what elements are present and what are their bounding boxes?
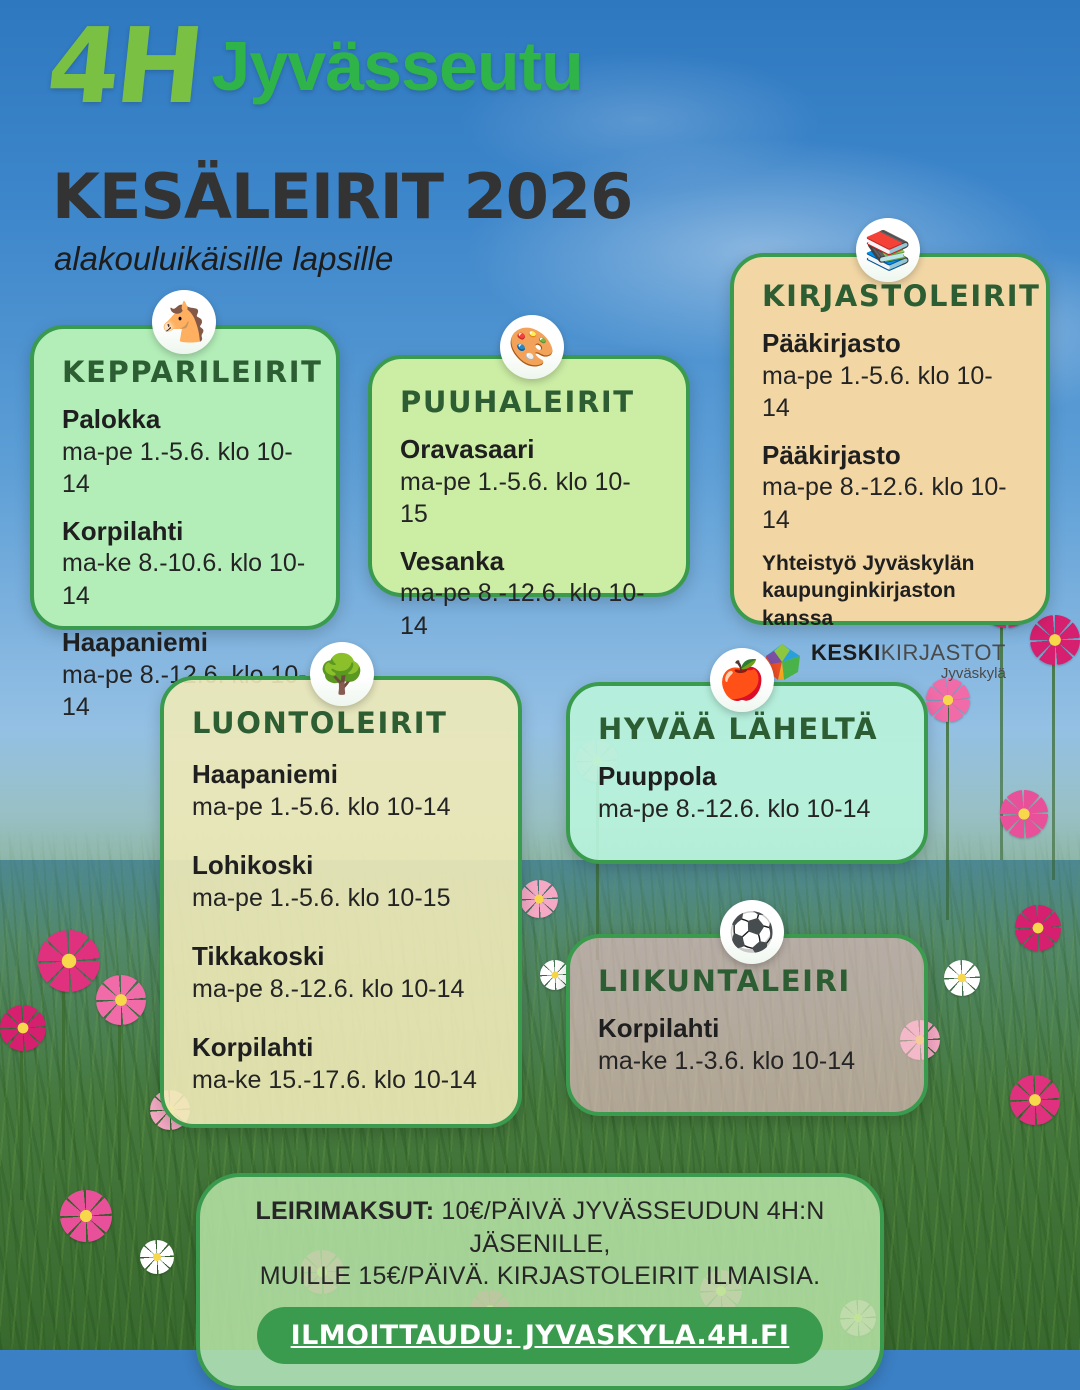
card-heading-hyvaa-lahelta: HYVÄÄ LÄHELTÄ <box>598 712 896 746</box>
partner-logo-text: KESKIKIRJASTOT Jyväskylä <box>811 642 1006 681</box>
camp-place: Palokka <box>62 403 308 436</box>
camp-entry: Vesanka ma-pe 8.-12.6. klo 10-14 <box>400 545 658 643</box>
logo-4h-mark: 4H <box>44 24 204 109</box>
page-subtitle: alakouluikäisille lapsille <box>54 240 393 278</box>
camp-schedule: ma-ke 8.-10.6. klo 10-14 <box>62 547 308 612</box>
camp-schedule: ma-pe 8.-12.6. klo 10-14 <box>762 471 1018 536</box>
camp-place: Tikkakoski <box>192 940 490 973</box>
books-icon: 📚 <box>856 218 920 282</box>
camp-schedule: ma-pe 8.-12.6. klo 10-14 <box>598 793 896 826</box>
camp-schedule: ma-pe 8.-12.6. klo 10-14 <box>400 577 658 642</box>
camp-schedule: ma-pe 1.-5.6. klo 10-15 <box>192 882 490 915</box>
card-heading-kepparileirit: KEPPARILEIRIT <box>62 355 308 389</box>
partner-logo-keskikirjastot: KESKIKIRJASTOT Jyväskylä <box>762 642 1018 682</box>
camp-place: Pääkirjasto <box>762 439 1018 472</box>
camp-schedule: ma-pe 1.-5.6. klo 10-15 <box>400 466 658 531</box>
horse-icon: 🐴 <box>152 290 216 354</box>
page-title: KESÄLEIRIT 2026 <box>52 160 632 233</box>
camp-place: Puuppola <box>598 760 896 793</box>
card-heading-luontoleirit: LUONTOLEIRIT <box>192 706 490 740</box>
camp-schedule: ma-ke 1.-3.6. klo 10-14 <box>598 1045 896 1078</box>
cooperation-line-1: Yhteistyö Jyväskylän <box>762 550 1018 577</box>
card-luontoleirit: LUONTOLEIRIT Haapaniemi ma-pe 1.-5.6. kl… <box>160 676 522 1128</box>
register-cta-button[interactable]: ILMOITTAUDU: JYVASKYLA.4H.FI <box>257 1307 824 1364</box>
camp-schedule: ma-pe 1.-5.6. klo 10-14 <box>762 360 1018 425</box>
card-kepparileirit: KEPPARILEIRIT Palokka ma-pe 1.-5.6. klo … <box>30 325 340 630</box>
camp-schedule: ma-pe 8.-12.6. klo 10-14 <box>192 973 490 1006</box>
camp-place: Korpilahti <box>192 1031 490 1064</box>
soccer-ball-icon: ⚽ <box>720 900 784 964</box>
camp-place: Haapaniemi <box>62 626 308 659</box>
fee-label: LEIRIMAKSUT: <box>255 1197 434 1225</box>
tree-icon: 🌳 <box>310 642 374 706</box>
camp-entry: Palokka ma-pe 1.-5.6. klo 10-14 <box>62 403 308 501</box>
camp-entry: Korpilahti ma-ke 8.-10.6. klo 10-14 <box>62 515 308 613</box>
camp-place: Lohikoski <box>192 849 490 882</box>
fee-line-1: LEIRIMAKSUT: 10€/PÄIVÄ JYVÄSSEUDUN 4H:N … <box>226 1195 854 1260</box>
fee-text-1: 10€/PÄIVÄ JYVÄSSEUDUN 4H:N JÄSENILLE, <box>434 1197 824 1258</box>
camp-entry: Lohikoski ma-pe 1.-5.6. klo 10-15 <box>192 849 490 914</box>
partner-logo-light: KIRJASTOT <box>881 640 1006 665</box>
camp-schedule: ma-ke 15.-17.6. klo 10-14 <box>192 1064 490 1097</box>
camp-entry: Tikkakoski ma-pe 8.-12.6. klo 10-14 <box>192 940 490 1005</box>
camp-place: Oravasaari <box>400 433 658 466</box>
camp-schedule: ma-pe 1.-5.6. klo 10-14 <box>192 791 490 824</box>
palette-icon: 🎨 <box>500 315 564 379</box>
footer-panel: LEIRIMAKSUT: 10€/PÄIVÄ JYVÄSSEUDUN 4H:N … <box>196 1173 884 1390</box>
brand-logo: 4H Jyvässeutu <box>48 24 583 109</box>
camp-place: Korpilahti <box>598 1012 896 1045</box>
fee-line-2: MUILLE 15€/PÄIVÄ. KIRJASTOLEIRIT ILMAISI… <box>226 1260 854 1293</box>
card-heading-liikuntaleiri: LIIKUNTALEIRI <box>598 964 896 998</box>
partner-logo-bold: KESKI <box>811 640 881 665</box>
camp-entry: Puuppola ma-pe 8.-12.6. klo 10-14 <box>598 760 896 825</box>
camp-place: Korpilahti <box>62 515 308 548</box>
camp-place: Haapaniemi <box>192 758 490 791</box>
card-puuhaleirit: PUUHALEIRIT Oravasaari ma-pe 1.-5.6. klo… <box>368 355 690 597</box>
logo-wordmark: Jyvässeutu <box>211 31 582 109</box>
cooperation-line-2: kaupunginkirjaston kanssa <box>762 577 1018 632</box>
camp-place: Pääkirjasto <box>762 327 1018 360</box>
camp-entry: Korpilahti ma-ke 1.-3.6. klo 10-14 <box>598 1012 896 1077</box>
partner-logo-sub: Jyväskylä <box>811 666 1006 681</box>
camp-entry: Pääkirjasto ma-pe 8.-12.6. klo 10-14 <box>762 439 1018 537</box>
apple-icon: 🍎 <box>710 648 774 712</box>
card-heading-kirjastoleirit: KIRJASTOLEIRIT <box>762 279 1018 313</box>
card-kirjastoleirit: KIRJASTOLEIRIT Pääkirjasto ma-pe 1.-5.6.… <box>730 253 1050 625</box>
camp-entry: Korpilahti ma-ke 15.-17.6. klo 10-14 <box>192 1031 490 1096</box>
camp-entry: Haapaniemi ma-pe 1.-5.6. klo 10-14 <box>192 758 490 823</box>
camp-entry: Oravasaari ma-pe 1.-5.6. klo 10-15 <box>400 433 658 531</box>
camp-schedule: ma-pe 1.-5.6. klo 10-14 <box>62 436 308 501</box>
camp-place: Vesanka <box>400 545 658 578</box>
camp-entry: Pääkirjasto ma-pe 1.-5.6. klo 10-14 <box>762 327 1018 425</box>
card-heading-puuhaleirit: PUUHALEIRIT <box>400 385 658 419</box>
